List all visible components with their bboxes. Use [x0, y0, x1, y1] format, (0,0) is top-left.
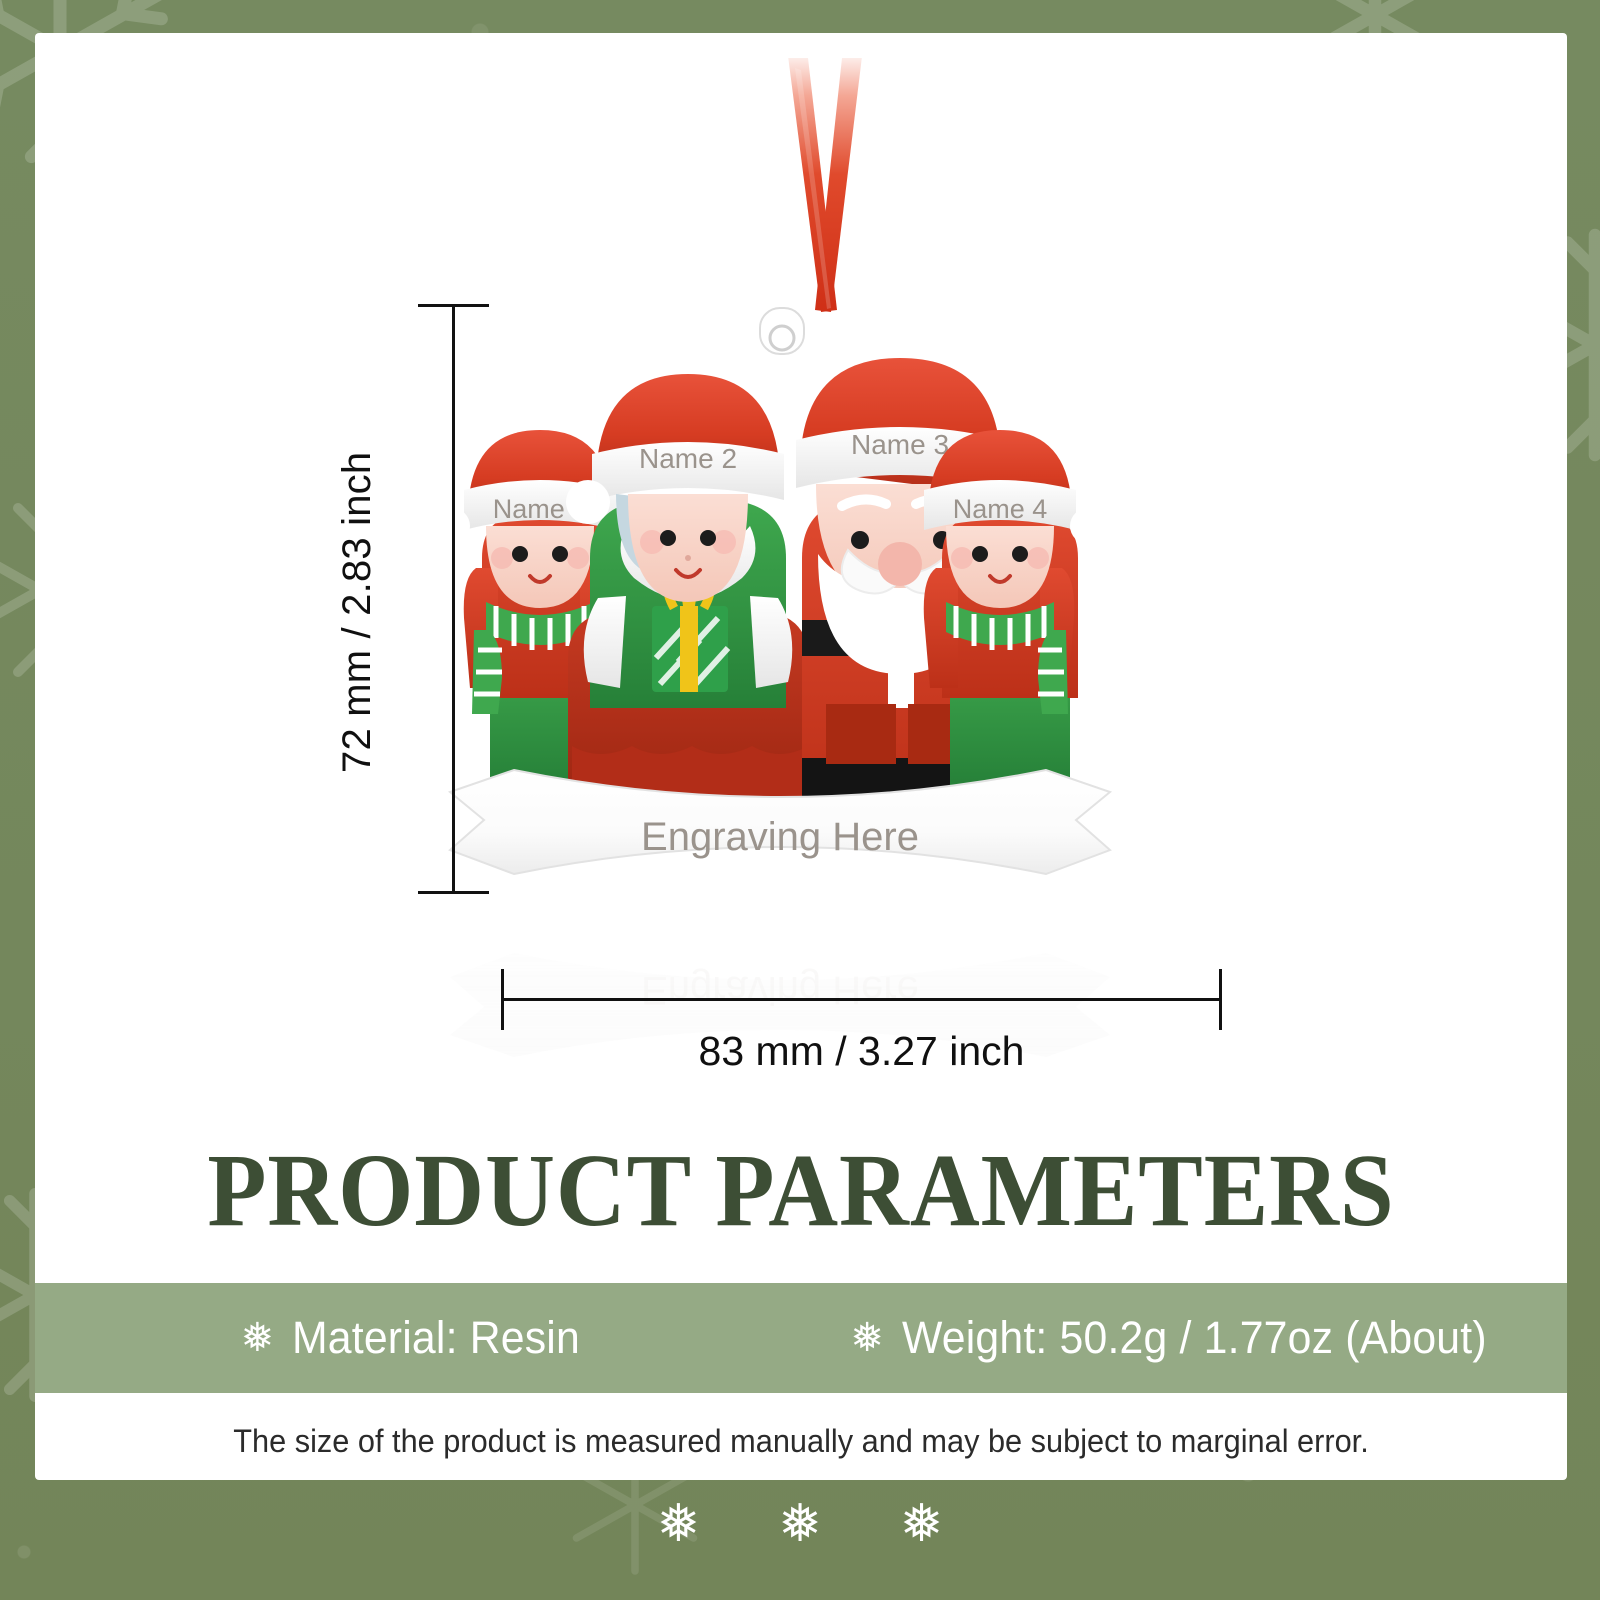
figure-name-label: Name 3 [851, 429, 949, 460]
svg-text:Engraving Here: Engraving Here [641, 968, 919, 1012]
christmas-ornament: Name 1 [430, 258, 1130, 878]
height-measure-cap-bottom [418, 891, 489, 894]
snowflake-icon: ❅ [900, 1498, 944, 1550]
width-measure-line [501, 998, 1222, 1001]
banner-engraving-text: Engraving Here [641, 815, 919, 859]
height-measure-label: 72 mm / 2.83 inch [335, 453, 380, 773]
spec-material-label: Material: Resin [292, 1312, 580, 1364]
spec-weight: ❅ Weight: 50.2g / 1.77oz (About) [801, 1312, 1567, 1364]
spec-weight-label: Weight: 50.2g / 1.77oz (About) [902, 1312, 1487, 1364]
figure-child-right: Name 4 [924, 430, 1106, 788]
snowflake-icon: ❅ [657, 1498, 701, 1550]
footer-snowflake-row: ❅ ❅ ❅ [0, 1498, 1600, 1550]
product-photo: Name 1 [35, 33, 1567, 1083]
height-measure-line [452, 304, 455, 894]
figure-name-label: Name 4 [953, 494, 1048, 524]
hanger-tab [760, 308, 804, 354]
measurement-disclaimer: The size of the product is measured manu… [66, 1423, 1537, 1460]
spec-material: ❅ Material: Resin [35, 1312, 801, 1364]
content-panel: Name 1 [35, 33, 1567, 1480]
snowflake-icon: ❅ [241, 1318, 275, 1358]
width-measure-label: 83 mm / 3.27 inch [501, 1028, 1222, 1075]
width-measure-cap-left [501, 969, 504, 1030]
width-measure-cap-right [1219, 969, 1222, 1030]
figure-mrs-claus: Name 2 [566, 374, 808, 830]
snowflake-icon: ❅ [778, 1498, 822, 1550]
specification-bar: ❅ Material: Resin ❅ Weight: 50.2g / 1.77… [35, 1283, 1567, 1393]
snowflake-icon: ❅ [850, 1318, 884, 1358]
height-measure-cap-top [418, 304, 489, 307]
page-title: PRODUCT PARAMETERS [89, 1131, 1514, 1250]
figure-name-label: Name 2 [639, 443, 737, 474]
